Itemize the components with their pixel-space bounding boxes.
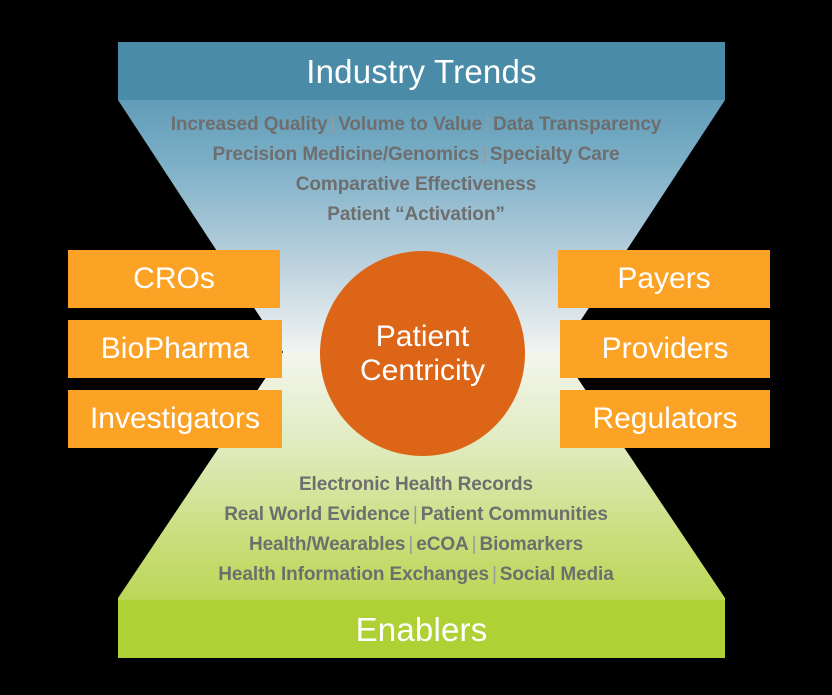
enabler-line: Health/Wearables|eCOA|Biomarkers [0, 530, 832, 560]
stakeholder-label: Investigators [90, 404, 260, 434]
trend-item: Increased Quality [171, 114, 328, 135]
stakeholder-box-cros[interactable]: CROs [68, 250, 280, 308]
trend-item: Patient “Activation” [327, 204, 504, 225]
trend-item: Precision Medicine/Genomics [213, 144, 480, 165]
stakeholder-box-regulators[interactable]: Regulators [560, 390, 770, 448]
separator-icon: | [482, 114, 493, 135]
separator-icon: | [479, 144, 490, 165]
enabler-item: Patient Communities [421, 504, 608, 525]
enablers-title: Enablers [356, 613, 488, 646]
enabler-item: Real World Evidence [224, 504, 410, 525]
enabler-line: Electronic Health Records [0, 470, 832, 500]
enabler-line: Health Information Exchanges|Social Medi… [0, 560, 832, 590]
patient-centricity-line-2: Centricity [360, 354, 485, 388]
stakeholder-label: Providers [602, 334, 729, 364]
industry-trends-line: Increased Quality|Volume to Value|Data T… [0, 110, 832, 140]
trend-item: Specialty Care [490, 144, 620, 165]
enabler-item: eCOA [416, 534, 468, 555]
separator-icon: | [410, 504, 421, 525]
trend-item: Data Transparency [493, 114, 661, 135]
industry-trends-line: Comparative Effectiveness [0, 170, 832, 200]
enabler-item: Health Information Exchanges [218, 564, 489, 585]
patient-centricity-circle: Patient Centricity [320, 251, 525, 456]
industry-trends-title: Industry Trends [306, 55, 536, 88]
stakeholder-box-providers[interactable]: Providers [560, 320, 770, 378]
separator-icon: | [489, 564, 500, 585]
stakeholder-label: BioPharma [101, 334, 249, 364]
stakeholder-label: Payers [617, 264, 710, 294]
separator-icon: | [405, 534, 416, 555]
industry-trends-line: Precision Medicine/Genomics|Specialty Ca… [0, 140, 832, 170]
trend-item: Comparative Effectiveness [296, 174, 536, 195]
industry-trends-list: Increased Quality|Volume to Value|Data T… [0, 110, 832, 230]
enabler-item: Social Media [500, 564, 614, 585]
enabler-item: Biomarkers [479, 534, 583, 555]
stakeholder-label: CROs [133, 264, 215, 294]
enabler-item: Electronic Health Records [299, 474, 533, 495]
stakeholder-label: Regulators [592, 404, 737, 434]
separator-icon: | [327, 114, 338, 135]
enablers-footer-band: Enablers [118, 600, 725, 658]
stakeholder-box-biopharma[interactable]: BioPharma [68, 320, 282, 378]
stakeholder-box-payers[interactable]: Payers [558, 250, 770, 308]
patient-centricity-line-1: Patient [376, 320, 469, 354]
diagram-canvas: Industry Trends Increased Quality|Volume… [0, 0, 832, 695]
enabler-line: Real World Evidence|Patient Communities [0, 500, 832, 530]
enabler-item: Health/Wearables [249, 534, 405, 555]
industry-trends-line: Patient “Activation” [0, 200, 832, 230]
enablers-list: Electronic Health Records Real World Evi… [0, 470, 832, 590]
stakeholder-box-investigators[interactable]: Investigators [68, 390, 282, 448]
separator-icon: | [469, 534, 480, 555]
industry-trends-header-band: Industry Trends [118, 42, 725, 100]
trend-item: Volume to Value [338, 114, 482, 135]
